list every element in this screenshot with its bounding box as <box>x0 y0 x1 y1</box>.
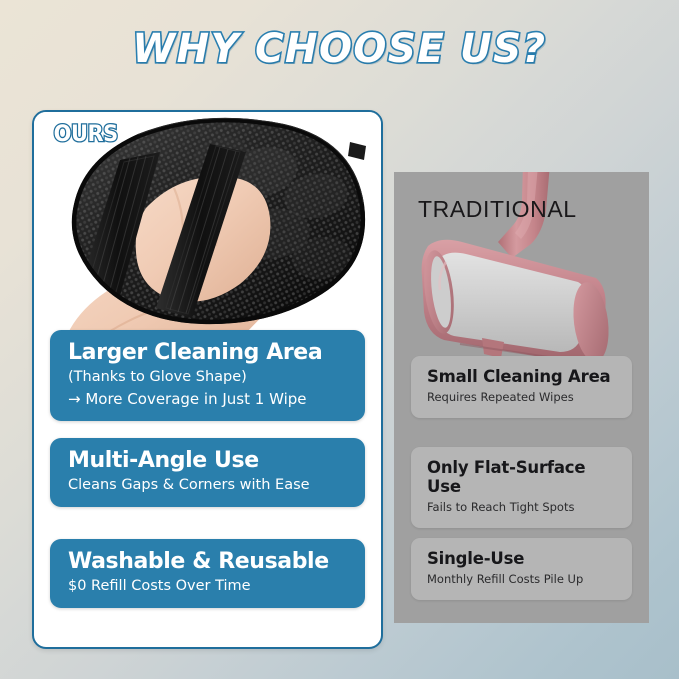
traditional-card-sub: Fails to Reach Tight Spots <box>427 501 616 515</box>
traditional-card-sub: Monthly Refill Costs Pile Up <box>427 573 616 587</box>
ours-card-title: Multi-Angle Use <box>68 448 349 474</box>
ours-card-title: Washable & Reusable <box>68 549 349 575</box>
traditional-card-sub: Requires Repeated Wipes <box>427 391 616 405</box>
ours-badge: OURS <box>54 122 118 147</box>
comparison-infographic: WHY CHOOSE US? <box>0 0 679 679</box>
ours-card: Multi-Angle Use Cleans Gaps & Corners wi… <box>50 438 365 507</box>
page-title: WHY CHOOSE US? <box>132 26 546 72</box>
ours-card-title: Larger Cleaning Area <box>68 340 349 366</box>
traditional-heading: TRADITIONAL <box>418 196 577 223</box>
ours-card-sub: $0 Refill Costs Over Time <box>68 577 349 596</box>
ours-card: Washable & Reusable $0 Refill Costs Over… <box>50 539 365 608</box>
traditional-panel: TRADITIONAL Small Cleaning Area Requires… <box>394 172 649 623</box>
ours-card-sub: Cleans Gaps & Corners with Ease <box>68 476 349 495</box>
traditional-card-title: Small Cleaning Area <box>427 368 616 387</box>
page-title-wrap: WHY CHOOSE US? <box>0 26 679 72</box>
traditional-card-title: Only Flat-Surface Use <box>427 459 616 497</box>
traditional-card: Only Flat-Surface Use Fails to Reach Tig… <box>411 447 632 528</box>
traditional-card: Small Cleaning Area Requires Repeated Wi… <box>411 356 632 418</box>
ours-card-sub2: → More Coverage in Just 1 Wipe <box>68 390 349 410</box>
ours-panel: OURS Larger Cleaning Area (Thanks to Glo… <box>32 110 383 649</box>
traditional-card-title: Single-Use <box>427 550 616 569</box>
traditional-card: Single-Use Monthly Refill Costs Pile Up <box>411 538 632 600</box>
ours-card: Larger Cleaning Area (Thanks to Glove Sh… <box>50 330 365 421</box>
ours-card-sub: (Thanks to Glove Shape) <box>68 368 349 387</box>
